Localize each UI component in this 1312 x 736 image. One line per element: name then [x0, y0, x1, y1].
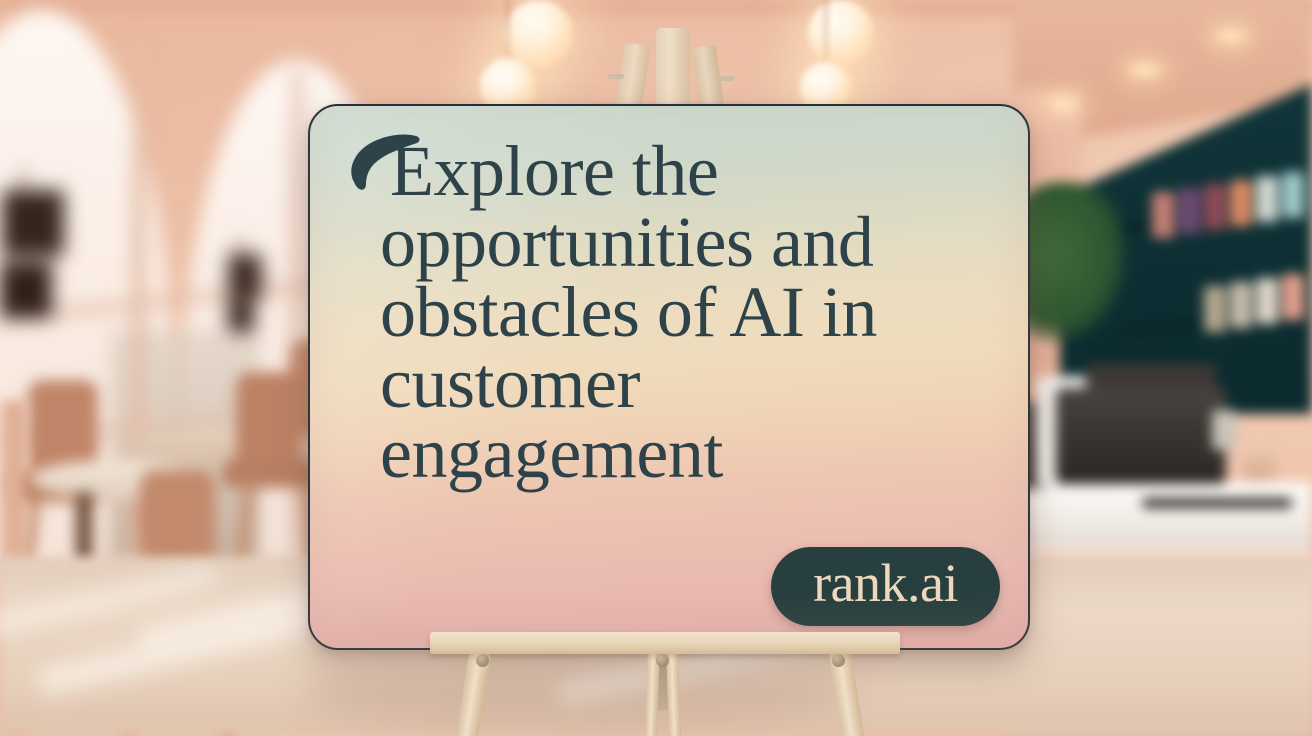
ceiling-spotlight — [1126, 62, 1164, 78]
pendant-globe — [505, 0, 573, 68]
headline-line-2: opportunities and — [380, 207, 994, 278]
hanging-picture-frame — [228, 300, 254, 332]
shelf-product — [1230, 180, 1252, 226]
pendant-cord — [507, 0, 509, 58]
shelf-product — [1282, 274, 1304, 320]
shelf-product — [1152, 192, 1174, 238]
rank-ai-logo-badge[interactable]: rank.ai — [771, 547, 1000, 626]
easel-bottom — [430, 630, 900, 736]
headline-line-5: engagement — [380, 418, 994, 489]
easel-bottom-ledge — [430, 632, 900, 654]
shelf-product — [1204, 286, 1226, 332]
ceiling-spotlight — [1212, 28, 1250, 44]
hanging-picture-frame — [2, 190, 64, 256]
hanging-picture-frame — [0, 262, 52, 318]
hanging-picture-frame — [228, 254, 262, 300]
shelf-product — [1204, 184, 1226, 230]
easel-pin — [718, 76, 734, 81]
easel-screw — [832, 654, 845, 667]
shelf-product — [1282, 172, 1304, 218]
sign-headline: Explore the opportunities and obstacles … — [380, 136, 994, 489]
pendant-cord — [825, 0, 827, 62]
shelf-product — [1230, 282, 1252, 328]
easel-leg — [656, 28, 690, 106]
sign-board[interactable]: Explore the opportunities and obstacles … — [308, 104, 1030, 650]
easel-pin — [608, 74, 624, 79]
pendant-globe — [808, 0, 874, 66]
marble-countertop — [1012, 482, 1312, 546]
shelf-product — [1178, 188, 1200, 234]
headline-line-4: customer — [380, 348, 994, 419]
rank-ai-logo-label: rank.ai — [813, 556, 958, 611]
headline-line-3: obstacles of AI in — [380, 277, 994, 348]
coffee-cup — [1242, 452, 1276, 482]
headline-line-1: Explore the — [380, 136, 994, 207]
espresso-machine — [1056, 388, 1226, 484]
shelf-product — [1256, 278, 1278, 324]
shelf-product — [1256, 176, 1278, 222]
counter-container — [1212, 410, 1236, 450]
ceiling-spotlight — [1044, 96, 1082, 112]
easel-screw — [476, 654, 489, 667]
cafe-signage-scene: Explore the opportunities and obstacles … — [0, 0, 1312, 736]
easel-screw — [656, 654, 669, 667]
counter-tray — [1142, 498, 1292, 508]
